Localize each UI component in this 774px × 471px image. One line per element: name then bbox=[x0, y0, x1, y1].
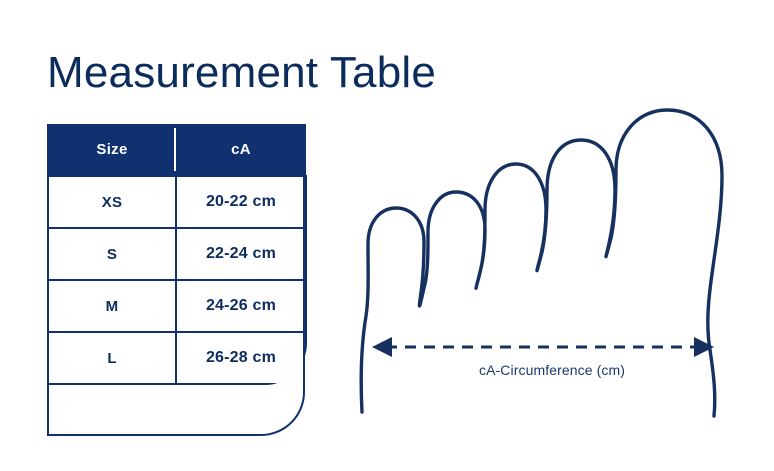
cell-ca: 24-26 cm bbox=[176, 280, 306, 332]
table-row: S 22-24 cm bbox=[48, 228, 306, 280]
measurement-table-page: Measurement Table Size cA XS 20-22 cm S … bbox=[0, 0, 774, 471]
cell-ca: 22-24 cm bbox=[176, 228, 306, 280]
left-arrowhead bbox=[372, 337, 392, 357]
cell-size: XS bbox=[48, 176, 176, 228]
page-title: Measurement Table bbox=[47, 50, 436, 96]
cell-ca: 26-28 cm bbox=[176, 332, 306, 384]
cell-size: M bbox=[48, 280, 176, 332]
dimension-arrow bbox=[372, 337, 714, 357]
table-row: XS 20-22 cm bbox=[48, 176, 306, 228]
column-header-ca: cA bbox=[176, 124, 306, 176]
foot-outline-diagram: cA-Circumference (cm) bbox=[340, 104, 764, 424]
table-body: XS 20-22 cm S 22-24 cm M 24-26 cm L 26-2… bbox=[48, 176, 306, 384]
column-header-size: Size bbox=[48, 124, 176, 176]
table-header-row: Size cA bbox=[48, 124, 306, 176]
table-row: M 24-26 cm bbox=[48, 280, 306, 332]
table-row: L 26-28 cm bbox=[48, 332, 306, 384]
dimension-label: cA-Circumference (cm) bbox=[340, 362, 764, 378]
cell-ca: 20-22 cm bbox=[176, 176, 306, 228]
cell-size: L bbox=[48, 332, 176, 384]
cell-size: S bbox=[48, 228, 176, 280]
table-header: Size cA bbox=[48, 124, 306, 176]
size-measurement-table: Size cA XS 20-22 cm S 22-24 cm M 24-26 c… bbox=[47, 124, 307, 385]
